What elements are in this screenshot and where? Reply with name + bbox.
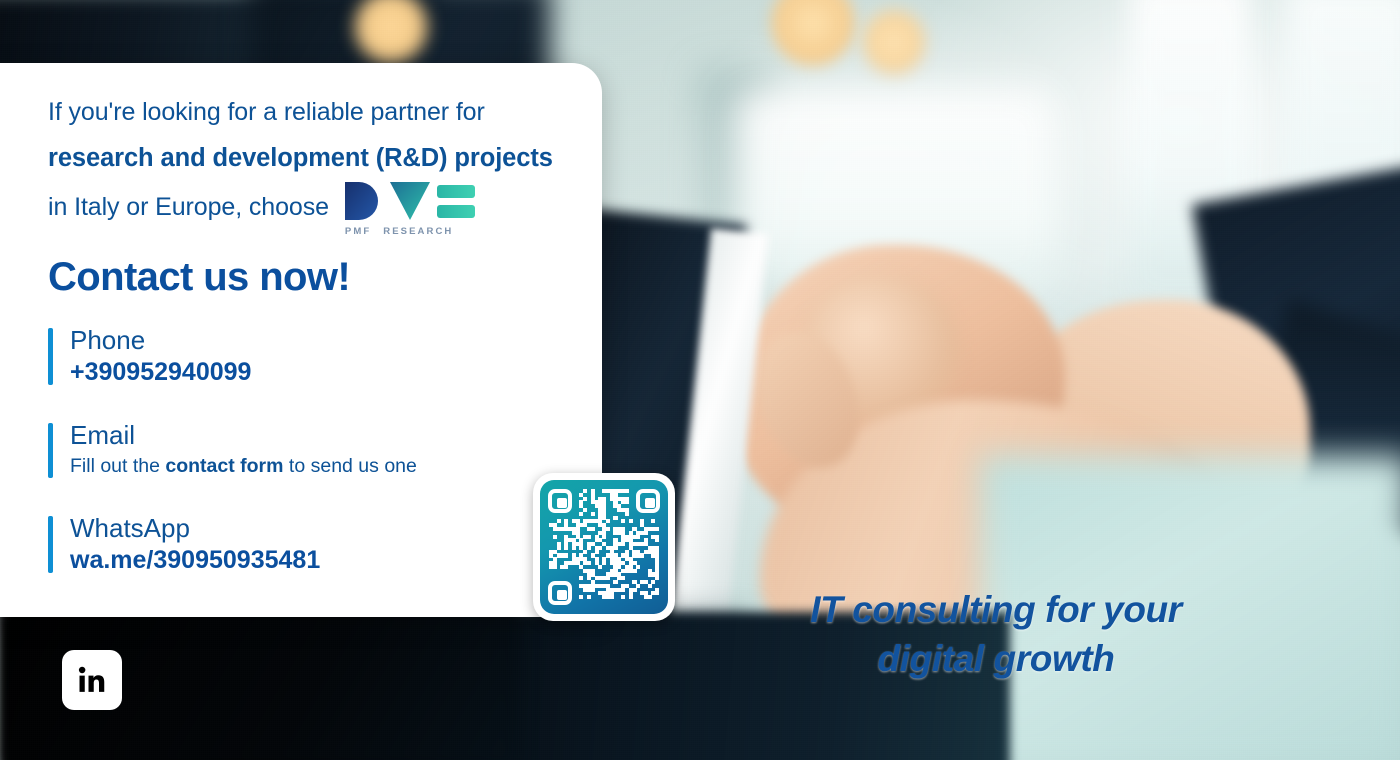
linkedin-icon[interactable]	[62, 650, 122, 710]
email-sub-prefix: Fill out the	[70, 455, 165, 477]
logo-e-bars-icon	[437, 181, 475, 221]
lead-line-3-row: in Italy or Europe, choose	[48, 181, 602, 233]
linkedin-glyph	[77, 665, 107, 695]
qr-code-surface	[540, 480, 668, 614]
promotional-banner: If you're looking for a reliable partner…	[0, 0, 1400, 760]
page-title: Contact us now!	[48, 255, 602, 300]
tagline-line-2: digital growth	[786, 634, 1206, 683]
qr-finder-top-left	[548, 489, 572, 513]
logo-wordmark: PMF RESEARCH	[343, 226, 475, 237]
contact-block-whatsapp[interactable]: WhatsApp wa.me/390950935481	[48, 512, 602, 576]
lead-line-2: research and development (R&D) projects	[48, 135, 602, 181]
logo-word-research: RESEARCH	[383, 226, 453, 237]
contact-card: If you're looking for a reliable partner…	[0, 63, 602, 617]
contact-block-phone[interactable]: Phone +390952940099	[48, 324, 602, 388]
contact-value-whatsapp[interactable]: wa.me/390950935481	[70, 544, 602, 576]
logo-e-bar-top	[437, 185, 475, 198]
logo-d-shape-icon	[343, 181, 383, 221]
contact-label-email: Email	[70, 419, 602, 451]
qr-finder-bottom-left	[548, 581, 572, 605]
lead-line-3: in Italy or Europe, choose	[48, 184, 329, 230]
lead-line-1: If you're looking for a reliable partner…	[48, 89, 602, 135]
contact-label-phone: Phone	[70, 324, 602, 356]
contact-label-whatsapp: WhatsApp	[70, 512, 602, 544]
contact-form-link[interactable]: contact form	[165, 455, 283, 477]
contact-value-email: Fill out the contact form to send us one	[70, 451, 602, 481]
logo-e-bar-bottom	[437, 205, 475, 218]
qr-code[interactable]	[533, 473, 675, 621]
logo-word-pmf: PMF	[345, 226, 371, 237]
pmf-research-logo: PMF RESEARCH	[343, 181, 475, 237]
email-sub-suffix: to send us one	[284, 455, 417, 477]
contact-value-phone[interactable]: +390952940099	[70, 356, 602, 388]
tagline-line-1: IT consulting for your	[786, 585, 1206, 634]
logo-v-triangle-icon	[390, 181, 430, 221]
qr-finder-top-right	[636, 489, 660, 513]
logo-marks	[343, 181, 475, 221]
contact-block-email[interactable]: Email Fill out the contact form to send …	[48, 419, 602, 481]
tagline: IT consulting for your digital growth	[786, 585, 1206, 683]
